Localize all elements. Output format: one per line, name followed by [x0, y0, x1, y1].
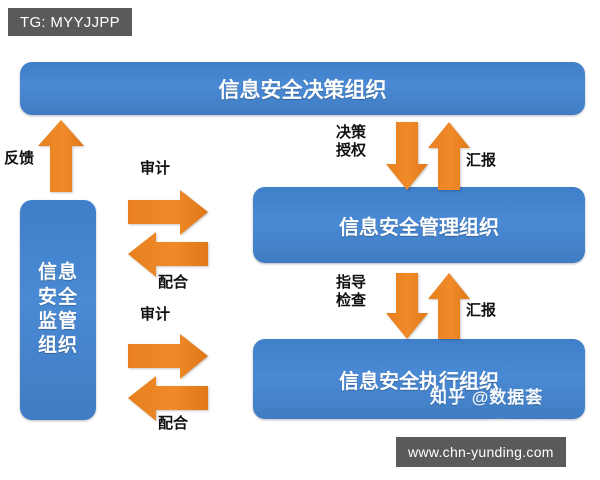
label-report-bottom: 汇报 — [466, 302, 496, 320]
supervise-label-line-1: 信息 — [38, 261, 78, 285]
diagram-canvas: TG: MYYJJPP www.chn-yunding.com 信息安全决策组织… — [0, 0, 600, 480]
website-url-badge: www.chn-yunding.com — [396, 437, 566, 467]
arrow-left-icon — [128, 232, 208, 277]
label-guidance-inspection: 指导 检查 — [336, 274, 366, 309]
label-audit-bottom: 审计 — [140, 306, 170, 324]
supervise-label-line-4: 组织 — [38, 334, 78, 358]
decorative-swirl — [470, 405, 590, 431]
supervise-label-line-2: 安全 — [38, 286, 78, 310]
arrow-up-icon — [428, 122, 470, 190]
node-decision-organization[interactable]: 信息安全决策组织 — [20, 62, 585, 115]
label-cooperate-top: 配合 — [158, 274, 188, 292]
label-report-top: 汇报 — [466, 152, 496, 170]
node-supervision-organization[interactable]: 信息 安全 监管 组织 — [20, 200, 96, 420]
arrow-down-icon — [386, 273, 428, 339]
arrow-up-icon — [38, 120, 84, 192]
label-decision-authorization: 决策 授权 — [336, 124, 366, 159]
node-management-organization[interactable]: 信息安全管理组织 — [253, 187, 585, 263]
label-cooperate-bottom: 配合 — [158, 415, 188, 433]
telegram-handle-badge: TG: MYYJJPP — [8, 8, 132, 36]
label-feedback: 反馈 — [4, 150, 34, 168]
arrow-right-icon — [128, 334, 208, 379]
arrow-down-icon — [386, 122, 428, 190]
arrow-right-icon — [128, 190, 208, 235]
arrow-up-icon — [428, 273, 470, 339]
label-audit-top: 审计 — [140, 160, 170, 178]
supervise-label-line-3: 监管 — [38, 310, 78, 334]
